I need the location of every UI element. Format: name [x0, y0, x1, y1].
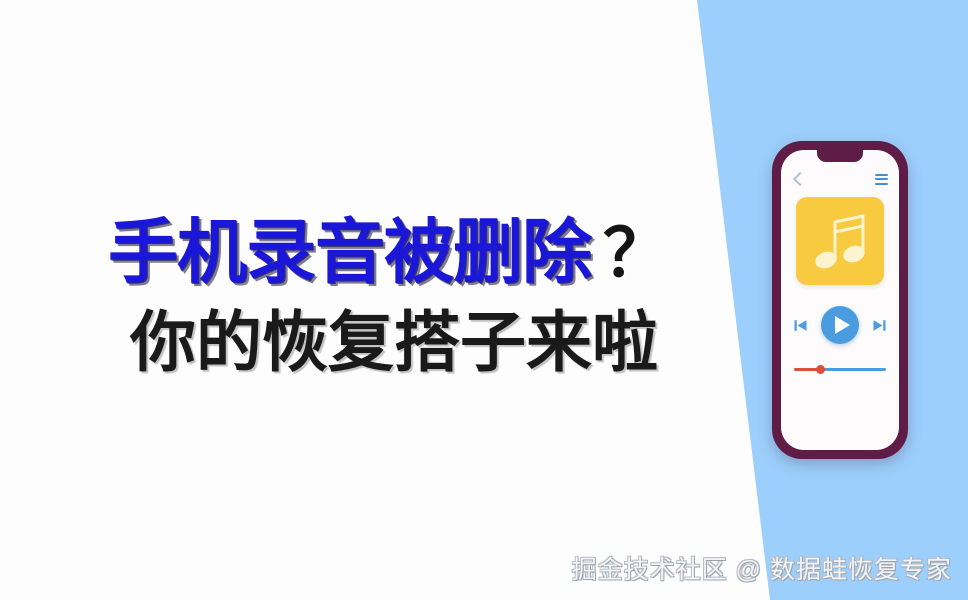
- headline-line-2: 你的恢复搭子来啦: [130, 303, 708, 381]
- headline-block: 手机录音被删除 ？ 你的恢复搭子来啦: [108, 212, 708, 381]
- playback-progress-bar[interactable]: [794, 364, 886, 374]
- play-icon[interactable]: [821, 306, 859, 344]
- headline-line-1-row: 手机录音被删除 ？: [108, 212, 708, 293]
- hamburger-line: [875, 174, 888, 176]
- phone-screen: [781, 150, 899, 450]
- hamburger-line: [875, 183, 888, 185]
- headline-line-1: 手机录音被删除: [108, 212, 591, 292]
- hamburger-menu-icon[interactable]: [875, 174, 888, 185]
- chevron-left-icon[interactable]: [792, 172, 803, 186]
- skip-next-icon[interactable]: [872, 318, 887, 333]
- poster-canvas: 手机录音被删除 ？ 你的恢复搭子来啦: [0, 0, 968, 600]
- hamburger-line: [875, 178, 888, 180]
- phone-notch: [817, 150, 863, 162]
- skip-previous-icon[interactable]: [793, 318, 808, 333]
- player-topbar: [781, 169, 899, 189]
- progress-knob[interactable]: [816, 365, 825, 374]
- player-controls: [781, 302, 899, 348]
- album-art: [796, 197, 884, 285]
- phone-mockup: [772, 141, 908, 459]
- progress-remaining: [823, 368, 886, 371]
- headline-question-mark: ？: [603, 213, 669, 293]
- music-note-icon: [813, 212, 869, 270]
- watermark-text: 掘金技术社区 @ 数据蛙恢复专家: [0, 550, 952, 586]
